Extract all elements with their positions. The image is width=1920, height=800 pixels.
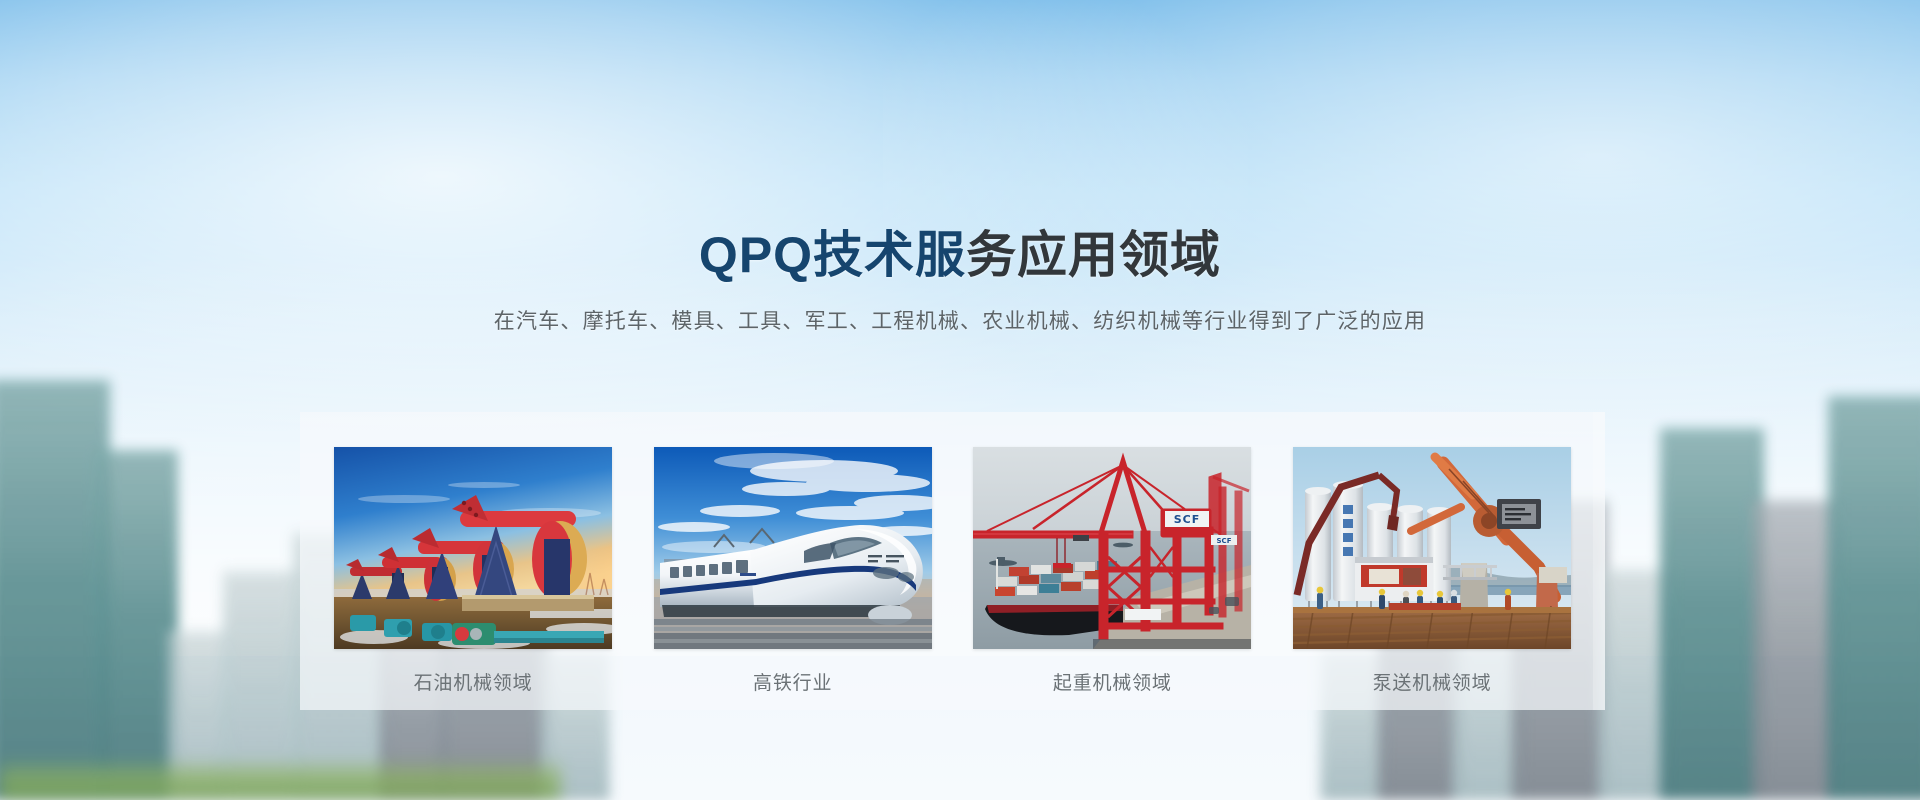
high-speed-train-photo[interactable] [654, 447, 932, 649]
card-label: 泵送机械领域 [1293, 668, 1571, 695]
card-oil-machinery[interactable]: 石油机械领域 [334, 447, 612, 695]
background-greenery [0, 758, 560, 800]
svg-text:SCF: SCF [1174, 513, 1201, 526]
card-label: 石油机械领域 [334, 668, 612, 695]
svg-text:SCF: SCF [1217, 537, 1232, 545]
port-gantry-crane-photo[interactable]: SCF SCF [973, 447, 1251, 649]
card-label: 高铁行业 [654, 668, 932, 695]
application-banner: QPQ技术服务应用领域 在汽车、摩托车、模具、工具、军工、工程机械、农业机械、纺… [0, 0, 1920, 800]
page-subtitle: 在汽车、摩托车、模具、工具、军工、工程机械、农业机械、纺织机械等行业得到了广泛的… [0, 305, 1920, 335]
card-label: 起重机械领域 [973, 668, 1251, 695]
card-high-speed-rail[interactable]: 高铁行业 [654, 447, 932, 695]
card-lifting-machinery[interactable]: SCF SCF [973, 447, 1251, 695]
application-cards-panel: 石油机械领域 [300, 412, 1605, 710]
card-pumping-machinery[interactable]: 泵送机械领域 [1293, 447, 1571, 695]
heading-block: QPQ技术服务应用领域 在汽车、摩托车、模具、工具、军工、工程机械、农业机械、纺… [0, 228, 1920, 335]
page-title-dark: 务应用领域 [966, 227, 1221, 283]
concrete-pump-photo[interactable] [1293, 447, 1571, 649]
application-cards-list: 石油机械领域 [300, 412, 1605, 710]
page-title-blue: QPQ技术服 [699, 227, 966, 283]
page-title: QPQ技术服务应用领域 [0, 228, 1920, 283]
oil-pumpjack-photo[interactable] [334, 447, 612, 649]
